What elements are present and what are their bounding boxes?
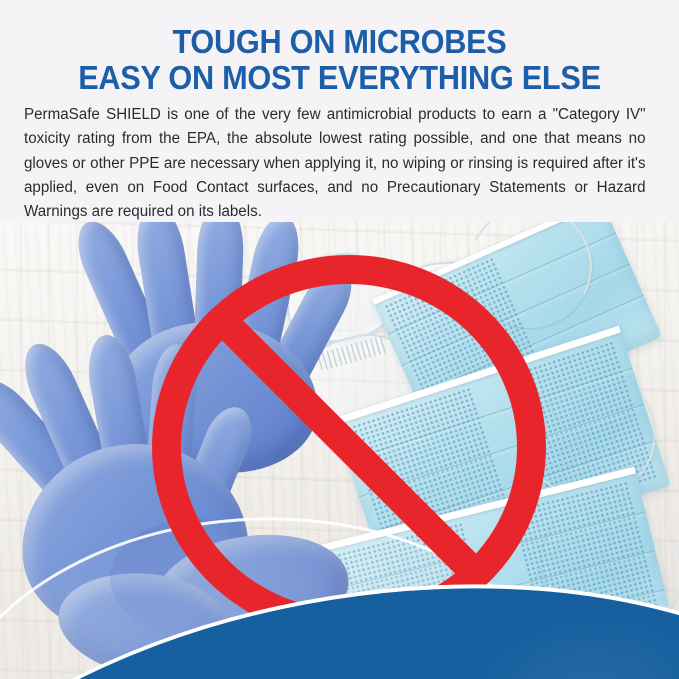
infographic-page: TOUGH ON MICROBES EASY ON MOST EVERYTHIN… — [0, 0, 679, 679]
body-copy: PermaSafe SHIELD is one of the very few … — [24, 103, 646, 224]
page-title: TOUGH ON MICROBES EASY ON MOST EVERYTHIN… — [24, 24, 655, 96]
ppe-photo — [0, 218, 679, 679]
headline-line-1: TOUGH ON MICROBES — [24, 24, 655, 60]
headline-line-2: EASY ON MOST EVERYTHING ELSE — [24, 60, 655, 96]
body-paragraph: PermaSafe SHIELD is one of the very few … — [24, 103, 646, 224]
text-block: TOUGH ON MICROBES EASY ON MOST EVERYTHIN… — [0, 0, 679, 222]
